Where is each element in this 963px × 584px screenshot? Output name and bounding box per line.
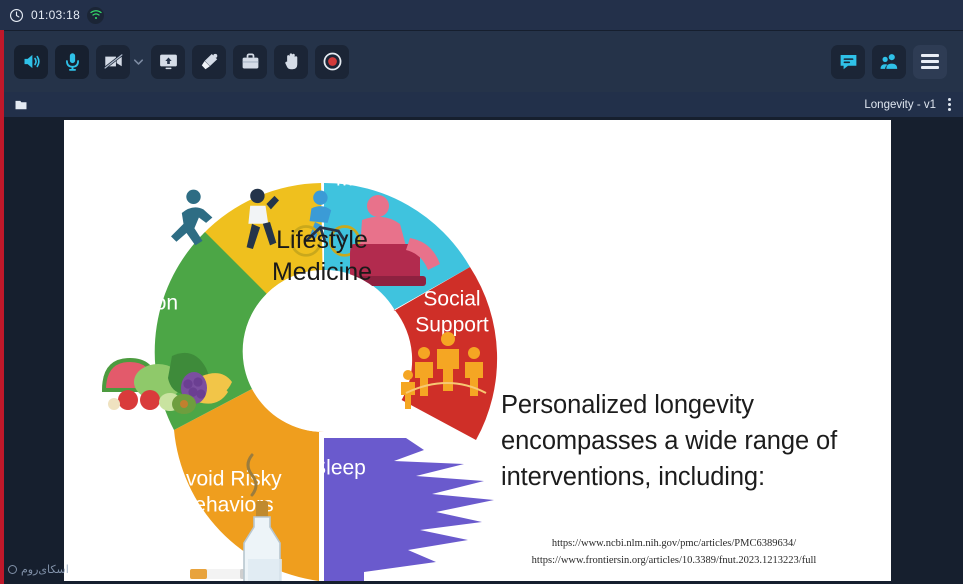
- clock-icon: [9, 8, 24, 23]
- whiteboard-button[interactable]: [192, 45, 226, 79]
- kebab-dot: [948, 103, 951, 106]
- microphone-icon: [62, 51, 83, 72]
- reference-link-1[interactable]: https://www.ncbi.nlm.nih.gov/pmc/article…: [464, 535, 884, 552]
- kebab-dot: [948, 98, 951, 101]
- left-accent-strip: [0, 30, 4, 584]
- skyroom-watermark: اسکای‌روم: [8, 563, 69, 576]
- segment-label-stress-1: Stress: [367, 142, 427, 165]
- hamburger-icon: [921, 66, 939, 69]
- slide-stage: Exercise Stress Management Social Suppor…: [4, 117, 963, 584]
- wheel-center: [243, 270, 405, 432]
- share-screen-button[interactable]: [151, 45, 185, 79]
- kebab-dot: [948, 108, 951, 111]
- camera-button[interactable]: [96, 45, 130, 79]
- document-icon-wrap: [14, 98, 28, 112]
- wheel-center-line1: Lifestyle: [276, 226, 368, 254]
- segment-label-avoid-1: Avoid Risky: [172, 468, 282, 491]
- wheel-svg: Exercise Stress Management Social Suppor…: [64, 120, 584, 581]
- document-title: Longevity - v1: [864, 99, 936, 111]
- hand-icon: [281, 51, 302, 72]
- reference-link-2[interactable]: https://www.frontiersin.org/articles/10.…: [464, 552, 884, 569]
- document-title-wrap: Longevity - v1: [864, 95, 955, 114]
- segment-label-nutrition: Nutrition: [100, 292, 178, 315]
- screen-share-icon: [158, 51, 179, 72]
- toolbar-right-group: [831, 45, 947, 79]
- speaker-icon: [21, 51, 42, 72]
- kebab-menu-icon[interactable]: [944, 95, 955, 114]
- record-button[interactable]: [315, 45, 349, 79]
- record-icon: [322, 51, 343, 72]
- menu-button[interactable]: [913, 45, 947, 79]
- segment-label-exercise: Exercise: [217, 147, 298, 170]
- status-bar: 01:03:18: [0, 0, 963, 30]
- segment-label-stress-2: Management: [336, 168, 459, 191]
- skyroom-meeting-window: 01:03:18: [0, 0, 963, 584]
- camera-group: [96, 45, 144, 79]
- chevron-down-icon[interactable]: [133, 56, 144, 67]
- presentation-icon: [14, 98, 28, 112]
- slide-references: https://www.ncbi.nlm.nih.gov/pmc/article…: [464, 535, 884, 570]
- segment-label-social-2: Support: [415, 314, 489, 337]
- wifi-icon: [87, 7, 104, 24]
- segment-label-sleep: Sleep: [312, 457, 366, 480]
- microphone-button[interactable]: [55, 45, 89, 79]
- hamburger-icon: [921, 60, 939, 63]
- briefcase-icon: [240, 51, 261, 72]
- file-share-button[interactable]: [233, 45, 267, 79]
- raise-hand-button[interactable]: [274, 45, 308, 79]
- brush-icon: [199, 51, 220, 72]
- participants-icon: [879, 51, 900, 72]
- elapsed-time-label: 01:03:18: [31, 8, 80, 22]
- watermark-label: اسکای‌روم: [21, 563, 69, 576]
- speaker-button[interactable]: [14, 45, 48, 79]
- presentation-slide: Exercise Stress Management Social Suppor…: [64, 120, 891, 581]
- wheel-center-line2: Medicine: [272, 258, 372, 286]
- hamburger-icon: [921, 54, 939, 57]
- main-toolbar: [4, 31, 963, 92]
- toolbar-left-group: [14, 45, 349, 79]
- chat-icon: [838, 51, 859, 72]
- document-header-bar: Longevity - v1: [4, 92, 963, 117]
- camera-off-icon: [103, 51, 124, 72]
- lifestyle-medicine-wheel: Exercise Stress Management Social Suppor…: [64, 120, 584, 581]
- participants-button[interactable]: [872, 45, 906, 79]
- segment-label-social-1: Social: [423, 288, 480, 311]
- chat-button[interactable]: [831, 45, 865, 79]
- slide-body-text: Personalized longevity encompasses a wid…: [501, 387, 871, 496]
- copyright-icon: [8, 565, 17, 574]
